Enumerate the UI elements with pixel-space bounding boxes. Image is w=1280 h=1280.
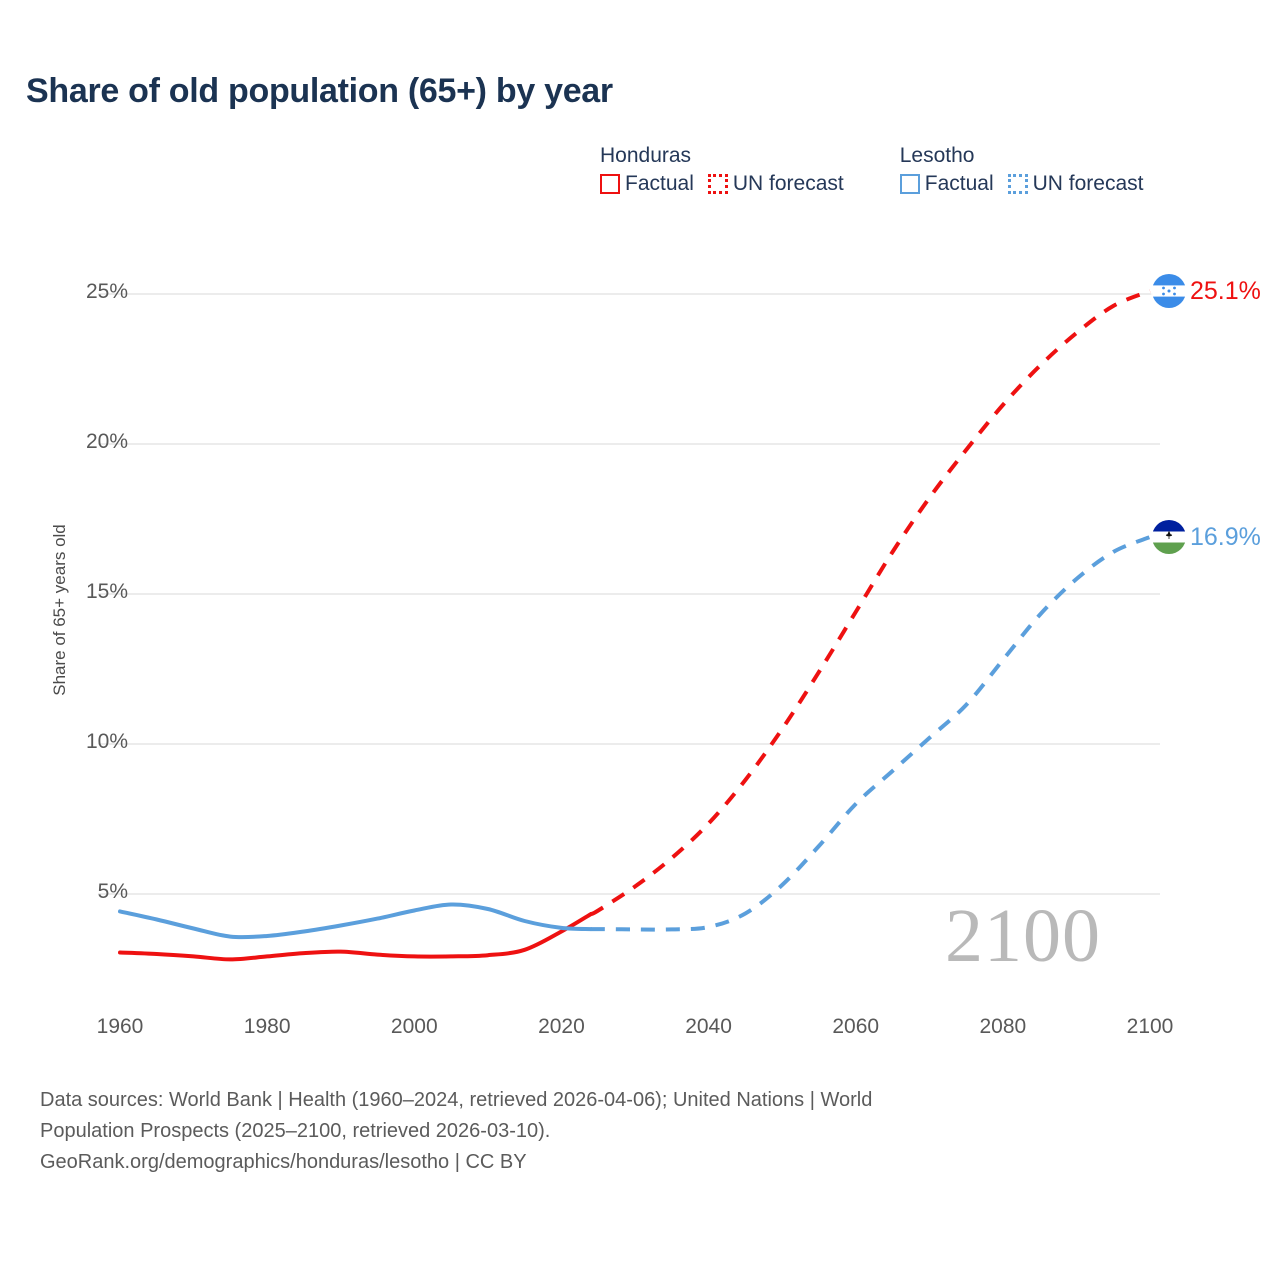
footer-line-2: Population Prospects (2025–2100, retriev… xyxy=(40,1116,1220,1147)
lesotho-flag-icon xyxy=(1152,520,1186,554)
line-factual-lesotho xyxy=(120,904,591,937)
series-lines xyxy=(120,291,1150,959)
x-tick-label: 2000 xyxy=(391,1015,438,1039)
y-tick-label: 10% xyxy=(86,730,128,754)
x-tick-label: 2060 xyxy=(832,1015,879,1039)
line-forecast-honduras xyxy=(591,291,1150,914)
footer-line-3: GeoRank.org/demographics/honduras/lesoth… xyxy=(40,1147,1220,1178)
watermark-year: 2100 xyxy=(945,898,1101,974)
y-tick-label: 20% xyxy=(86,430,128,454)
end-value-lesotho: 16.9% xyxy=(1190,525,1261,550)
x-tick-label: 2040 xyxy=(685,1015,732,1039)
footer-line-1: Data sources: World Bank | Health (1960–… xyxy=(40,1085,1220,1116)
line-forecast-lesotho xyxy=(591,537,1150,930)
honduras-flag-icon xyxy=(1152,274,1186,308)
x-tick-label: 1980 xyxy=(244,1015,291,1039)
x-tick-label: 2080 xyxy=(979,1015,1026,1039)
x-tick-label: 1960 xyxy=(97,1015,144,1039)
x-tick-label: 2020 xyxy=(538,1015,585,1039)
x-tick-label: 2100 xyxy=(1127,1015,1174,1039)
gridlines xyxy=(98,294,1160,894)
y-tick-label: 25% xyxy=(86,280,128,304)
end-label-honduras: 25.1% xyxy=(1152,274,1261,308)
end-label-lesotho: 16.9% xyxy=(1152,520,1261,554)
y-tick-label: 15% xyxy=(86,580,128,604)
end-value-honduras: 25.1% xyxy=(1190,279,1261,304)
y-tick-label: 5% xyxy=(98,880,128,904)
chart-page: Share of old population (65+) by year Ho… xyxy=(0,0,1280,1280)
footer-sources: Data sources: World Bank | Health (1960–… xyxy=(40,1085,1220,1178)
